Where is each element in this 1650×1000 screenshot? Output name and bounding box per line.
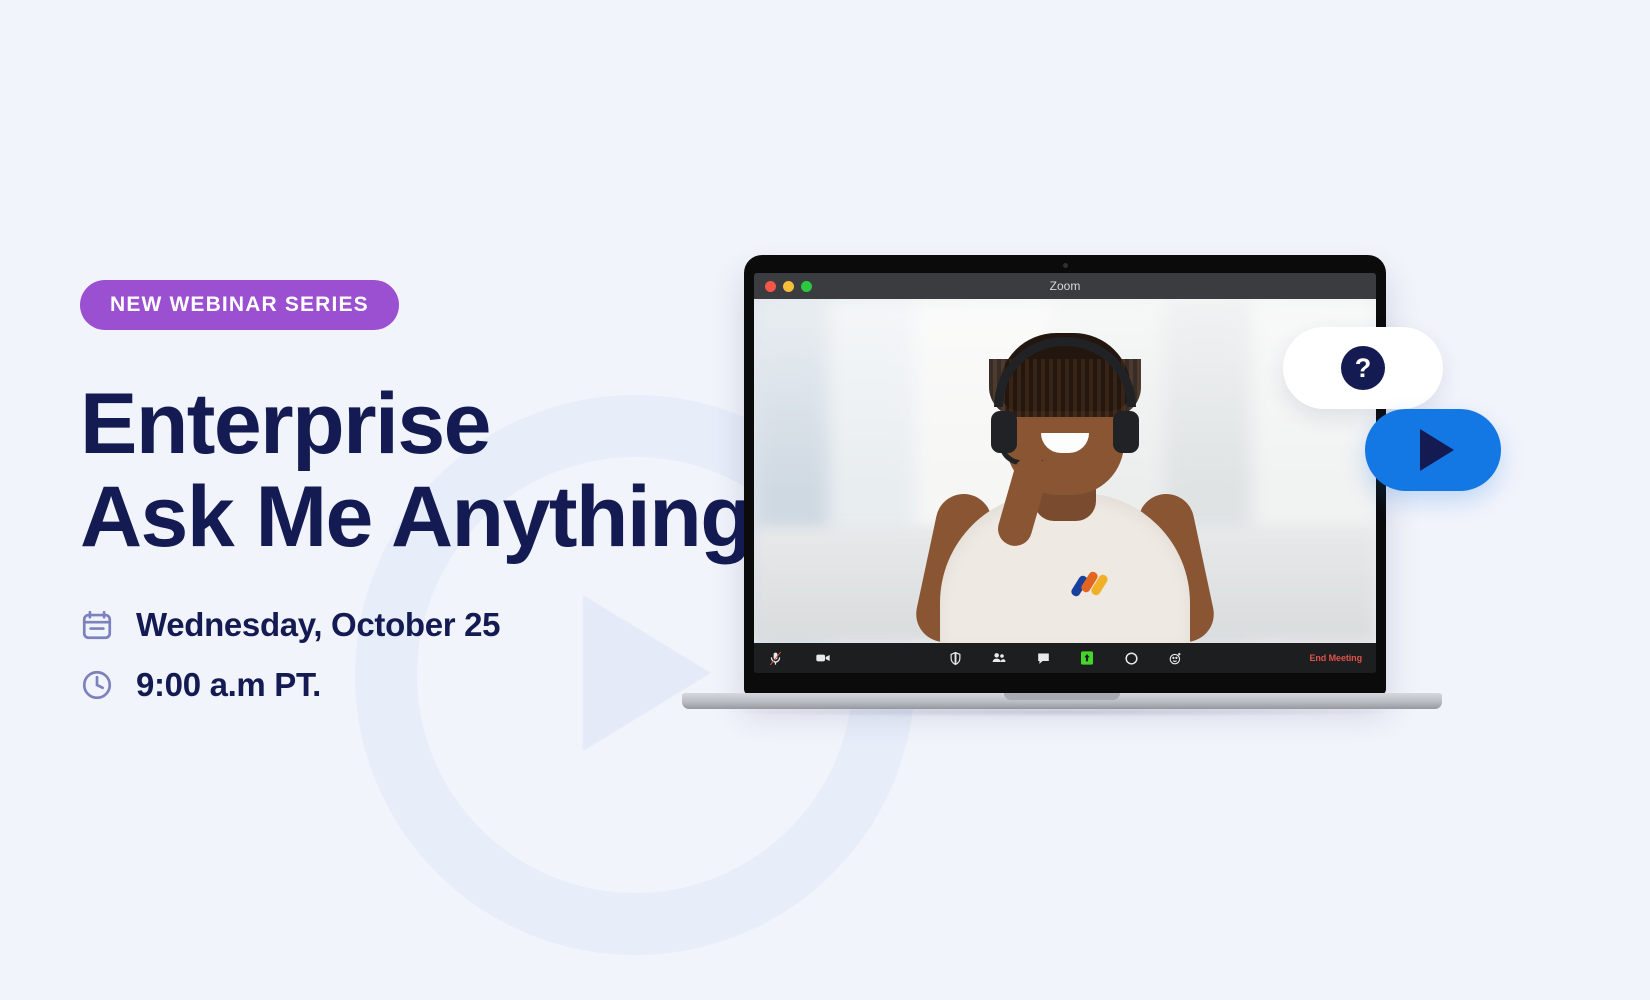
- clock-icon: [80, 668, 114, 702]
- calendar-icon: [80, 608, 114, 642]
- security-icon[interactable]: [946, 649, 964, 667]
- play-bubble[interactable]: [1365, 409, 1501, 491]
- status-badge: NEW WEBINAR SERIES: [80, 280, 399, 330]
- play-triangle-icon: [1420, 429, 1454, 471]
- video-feed: [754, 299, 1376, 643]
- zoom-toolbar: End Meeting: [754, 643, 1376, 673]
- question-mark-icon: ?: [1341, 346, 1385, 390]
- promo-copy: NEW WEBINAR SERIES Enterprise Ask Me Any…: [80, 280, 740, 726]
- window-titlebar: Zoom: [754, 273, 1376, 299]
- headset-earcup-right: [1113, 411, 1139, 453]
- shirt-logo: [1075, 571, 1105, 599]
- webcam-icon: [1063, 263, 1068, 268]
- laptop-shadow: [710, 707, 1414, 717]
- question-bubble[interactable]: ?: [1283, 327, 1443, 409]
- headline-line-1: Enterprise: [80, 378, 740, 471]
- event-date-text: Wednesday, October 25: [136, 606, 500, 644]
- window-title: Zoom: [754, 279, 1376, 293]
- chat-icon[interactable]: [1034, 649, 1052, 667]
- reactions-icon[interactable]: [1166, 649, 1184, 667]
- zoom-window: Zoom: [754, 273, 1376, 673]
- event-time-text: 9:00 a.m PT.: [136, 666, 321, 704]
- participants-icon[interactable]: [990, 649, 1008, 667]
- event-time-row: 9:00 a.m PT.: [80, 666, 740, 704]
- participant-avatar: [920, 333, 1210, 643]
- event-details: Wednesday, October 25 9:00 a.m PT.: [80, 606, 740, 704]
- laptop-mockup: Zoom: [682, 255, 1442, 715]
- headset-icon: [994, 337, 1136, 407]
- mute-microphone-icon[interactable]: [766, 649, 784, 667]
- record-icon[interactable]: [1122, 649, 1140, 667]
- headline-line-2: Ask Me Anything: [80, 471, 740, 564]
- laptop-lid: Zoom: [744, 255, 1386, 695]
- start-video-icon[interactable]: [814, 649, 832, 667]
- end-meeting-button[interactable]: End Meeting: [1309, 653, 1362, 663]
- laptop-base-notch: [1004, 693, 1120, 700]
- page-title: Enterprise Ask Me Anything: [80, 378, 740, 564]
- event-date-row: Wednesday, October 25: [80, 606, 740, 644]
- share-screen-icon[interactable]: [1078, 649, 1096, 667]
- toolbar-center-group: [946, 649, 1184, 667]
- toolbar-left-group: [766, 649, 832, 667]
